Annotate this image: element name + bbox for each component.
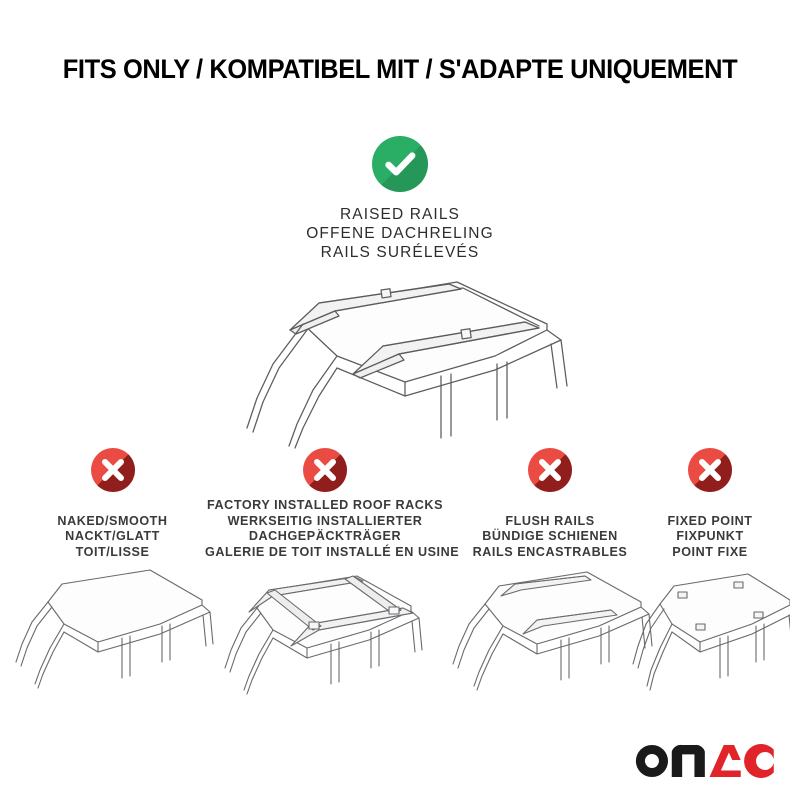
compatible-section: RAISED RAILS OFFENE DACHRELING RAILS SUR… (0, 136, 800, 262)
x-circle-icon (688, 448, 732, 492)
incompatible-line-fr: RAILS ENCASTRABLES (445, 545, 655, 560)
x-circle-icon (91, 448, 135, 492)
compatible-line-fr: RAILS SURÉLEVÉS (0, 243, 800, 262)
logo-letter-m (672, 745, 705, 777)
compatible-line-de: OFFENE DACHRELING (0, 224, 800, 243)
car-roof-factory-installed-rack-illustration (205, 560, 445, 710)
compatible-line-en: RAISED RAILS (0, 205, 800, 224)
check-circle-icon (372, 136, 428, 192)
incompatible-item-factory-rack: FACTORY INSTALLED ROOF RACKS WERKSEITIG … (205, 448, 445, 800)
car-roof-naked-smooth-illustration (10, 560, 215, 710)
incompatible-line-de: NACKT/GLATT (10, 529, 215, 544)
incompatible-line-en: FIXED POINT (630, 514, 790, 529)
incompatible-caption: FACTORY INSTALLED ROOF RACKS WERKSEITIG … (205, 498, 445, 560)
incompatible-line-fr: GALERIE DE TOIT INSTALLÉ EN USINE (205, 545, 445, 560)
incompatible-caption: NAKED/SMOOTH NACKT/GLATT TOIT/LISSE (10, 514, 215, 560)
omac-logo (634, 744, 776, 778)
car-roof-with-raised-rails-illustration (195, 278, 615, 453)
x-mark-glyph (688, 448, 732, 492)
car-roof-fixed-point-illustration (630, 560, 790, 710)
incompatible-line-en: NAKED/SMOOTH (10, 514, 215, 529)
check-mark-glyph (372, 136, 428, 192)
logo-letter-o (636, 745, 668, 777)
incompatible-line-de: FIXPUNKT (630, 529, 790, 544)
x-mark-glyph (528, 448, 572, 492)
car-roof-flush-rails-illustration (445, 560, 655, 710)
logo-letter-c (744, 744, 774, 778)
incompatible-head: FACTORY INSTALLED ROOF RACKS WERKSEITIG … (205, 448, 445, 560)
x-circle-icon (528, 448, 572, 492)
incompatible-caption: FIXED POINT FIXPUNKT POINT FIXE (630, 514, 790, 560)
x-mark-glyph (91, 448, 135, 492)
incompatible-line-fr: TOIT/LISSE (10, 545, 215, 560)
incompatible-head: NAKED/SMOOTH NACKT/GLATT TOIT/LISSE (10, 448, 215, 560)
incompatible-line-de-2: DACHGEPÄCKTRÄGER (205, 529, 445, 544)
x-circle-icon (303, 448, 347, 492)
logo-letter-a (710, 745, 741, 777)
incompatible-item-flush-rails: FLUSH RAILS BÜNDIGE SCHIENEN RAILS ENCAS… (445, 448, 655, 800)
x-mark-glyph (303, 448, 347, 492)
incompatible-line-en: FACTORY INSTALLED ROOF RACKS (205, 498, 445, 513)
incompatible-line-de: BÜNDIGE SCHIENEN (445, 529, 655, 544)
page-title: FITS ONLY / KOMPATIBEL MIT / S'ADAPTE UN… (16, 54, 784, 85)
incompatible-caption: FLUSH RAILS BÜNDIGE SCHIENEN RAILS ENCAS… (445, 514, 655, 560)
incompatible-line-fr: POINT FIXE (630, 545, 790, 560)
incompatible-head: FLUSH RAILS BÜNDIGE SCHIENEN RAILS ENCAS… (445, 448, 655, 560)
incompatible-line-en: FLUSH RAILS (445, 514, 655, 529)
incompatible-head: FIXED POINT FIXPUNKT POINT FIXE (630, 448, 790, 560)
compatible-caption: RAISED RAILS OFFENE DACHRELING RAILS SUR… (0, 205, 800, 262)
incompatible-line-de-1: WERKSEITIG INSTALLIERTER (205, 514, 445, 529)
incompatible-item-naked-smooth: NAKED/SMOOTH NACKT/GLATT TOIT/LISSE (10, 448, 215, 800)
